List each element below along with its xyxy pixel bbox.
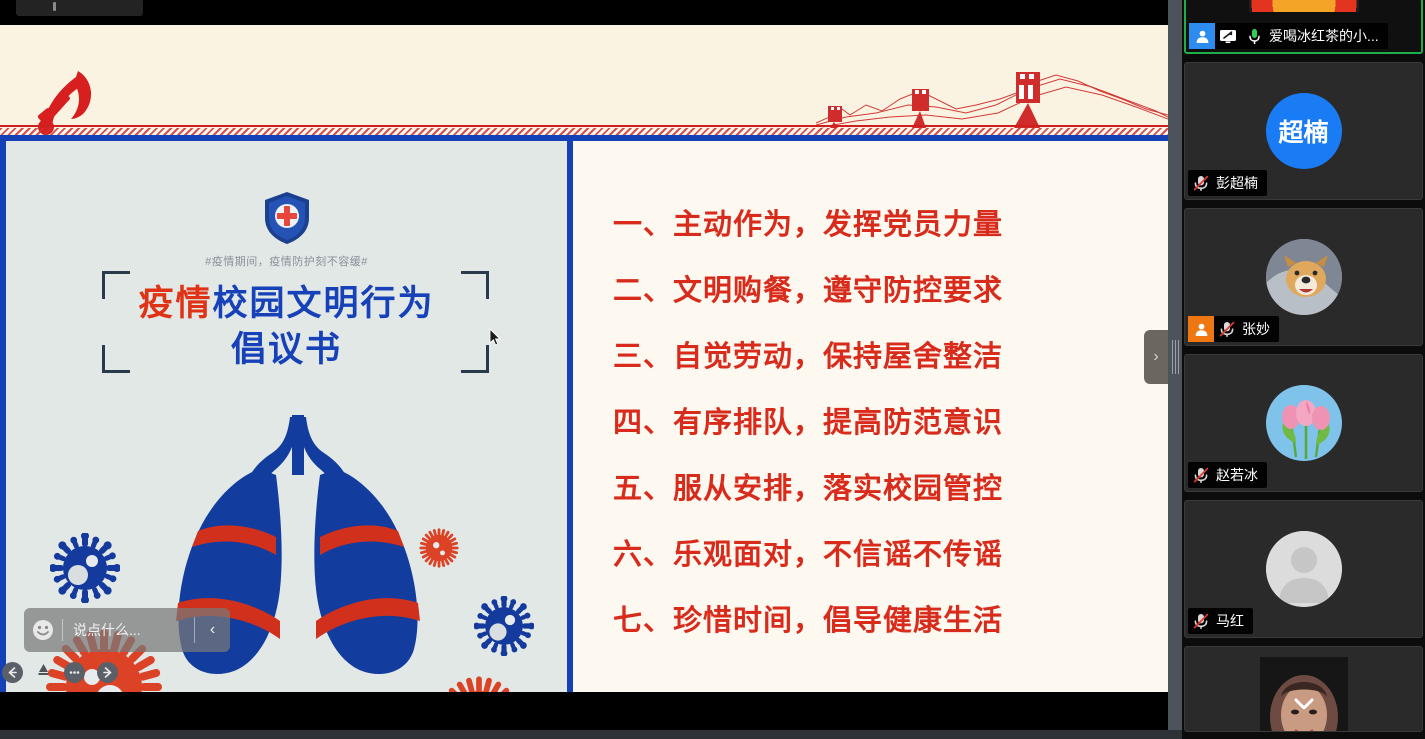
poster-left-panel: #疫情期间，疫情防护刻不容缓# 疫情校园文明行为 倡议书 — [0, 141, 573, 692]
avatar-default-person-icon — [1266, 531, 1342, 607]
participant-tile[interactable]: 赵若冰 — [1184, 354, 1423, 492]
microphone-muted-icon — [1214, 316, 1240, 342]
virus-icon-blue-2 — [474, 596, 534, 656]
pledge-item: 三、自觉劳动，保持屋舍整洁 — [613, 333, 1168, 375]
medical-shield-cross-icon — [263, 191, 311, 245]
avatar — [1185, 647, 1422, 731]
smiley-face-icon[interactable] — [24, 619, 62, 641]
pledge-item: 四、有序排队，提高防范意识 — [613, 399, 1168, 441]
presentation-slide: #疫情期间，疫情防护刻不容缓# 疫情校园文明行为 倡议书 — [0, 25, 1168, 692]
pledge-item: 六、乐观面对，不信谣不传谣 — [613, 531, 1168, 573]
virus-icon-red-medium — [436, 675, 522, 692]
screenshare-stage: #疫情期间，疫情防护刻不容缓# 疫情校园文明行为 倡议书 — [0, 0, 1168, 739]
participant-tile[interactable]: 西安加油 爱喝冰红茶的小... — [1184, 0, 1423, 54]
poster-hashtag-line: #疫情期间，疫情防护刻不容缓# — [6, 253, 567, 269]
microphone-muted-icon — [1188, 608, 1214, 634]
participant-tile[interactable] — [1184, 646, 1423, 732]
participant-name: 赵若冰 — [1214, 465, 1267, 485]
app-root: #疫情期间，疫情防护刻不容缓# 疫情校园文明行为 倡议书 — [0, 0, 1425, 739]
comment-input-placeholder[interactable]: 说点什么... — [63, 620, 194, 640]
panel-collapse-button[interactable]: › — [1144, 330, 1168, 384]
avatar-photo-dog — [1266, 239, 1342, 315]
poster-title: 疫情校园文明行为 倡议书 — [6, 281, 567, 373]
pledge-item: 七、珍惜时间，倡导健康生活 — [613, 597, 1168, 639]
pledge-item: 一、主动作为，发挥党员力量 — [613, 201, 1168, 243]
participant-tile[interactable]: 马红 — [1184, 500, 1423, 638]
pledge-list: 一、主动作为，发挥党员力量 二、文明购餐，遵守防控要求 三、自觉劳动，保持屋舍整… — [573, 141, 1168, 639]
host-badge-icon — [1189, 23, 1215, 49]
microphone-active-icon — [1241, 23, 1267, 49]
pledge-item: 五、服从安排，落实校园管控 — [613, 465, 1168, 507]
participant-tile[interactable]: 超楠 彭超楠 — [1184, 62, 1423, 200]
arrow-left-icon[interactable] — [2, 662, 23, 683]
participant-badges: 张妙 — [1188, 316, 1279, 342]
avatar-photo-tulips — [1266, 385, 1342, 461]
participant-badges: 彭超楠 — [1188, 170, 1267, 196]
poster-title-line2: 倡议书 — [231, 330, 342, 369]
screen-share-icon — [1215, 23, 1241, 49]
poster-title-highlight: 疫情 — [138, 284, 212, 323]
pledge-item: 二、文明购餐，遵守防控要求 — [613, 267, 1168, 309]
participant-name: 爱喝冰红茶的小... — [1267, 26, 1388, 46]
participant-badges: 马红 — [1188, 608, 1253, 634]
window-titlebar-chip — [16, 0, 143, 16]
slide-body-frame: #疫情期间，疫情防护刻不容缓# 疫情校园文明行为 倡议书 — [0, 135, 1168, 692]
host-badge-icon — [1188, 316, 1214, 342]
poster-title-rest: 校园文明行为 — [213, 284, 435, 323]
participant-tile[interactable]: 张妙 — [1184, 208, 1423, 346]
chevron-left-icon[interactable]: ‹ — [194, 617, 230, 643]
participants-sidebar[interactable]: 西安加油 爱喝冰红茶的小... 超楠 — [1182, 0, 1425, 739]
eject-triangle-icon[interactable] — [35, 661, 52, 683]
virus-icon-blue-1 — [50, 533, 120, 603]
participant-name: 马红 — [1214, 611, 1253, 631]
avatar-initials: 超楠 — [1266, 93, 1342, 169]
great-wall-illustration-icon — [816, 65, 1168, 128]
arrow-right-icon[interactable] — [97, 662, 118, 683]
participant-badges: 赵若冰 — [1188, 462, 1267, 488]
avatar-image-xian-jiayou: 西安加油 — [1249, 0, 1359, 12]
comment-input-bar[interactable]: 说点什么... ‹ — [24, 608, 230, 652]
participant-name: 彭超楠 — [1214, 173, 1267, 193]
microphone-muted-icon — [1188, 170, 1214, 196]
mouse-pointer-icon — [489, 328, 501, 347]
poster-right-panel: 一、主动作为，发挥党员力量 二、文明购餐，遵守防控要求 三、自觉劳动，保持屋舍整… — [573, 141, 1168, 692]
slide-navigation-bar — [2, 661, 118, 683]
slide-header-band — [0, 25, 1168, 128]
participant-name: 张妙 — [1240, 319, 1279, 339]
panel-drag-handle[interactable] — [1168, 0, 1182, 739]
chevron-down-icon[interactable] — [1291, 691, 1317, 717]
bottom-status-strip — [0, 730, 1182, 739]
participant-badges: 爱喝冰红茶的小... — [1189, 23, 1388, 49]
microphone-muted-icon — [1188, 462, 1214, 488]
ellipsis-icon[interactable] — [64, 662, 85, 683]
